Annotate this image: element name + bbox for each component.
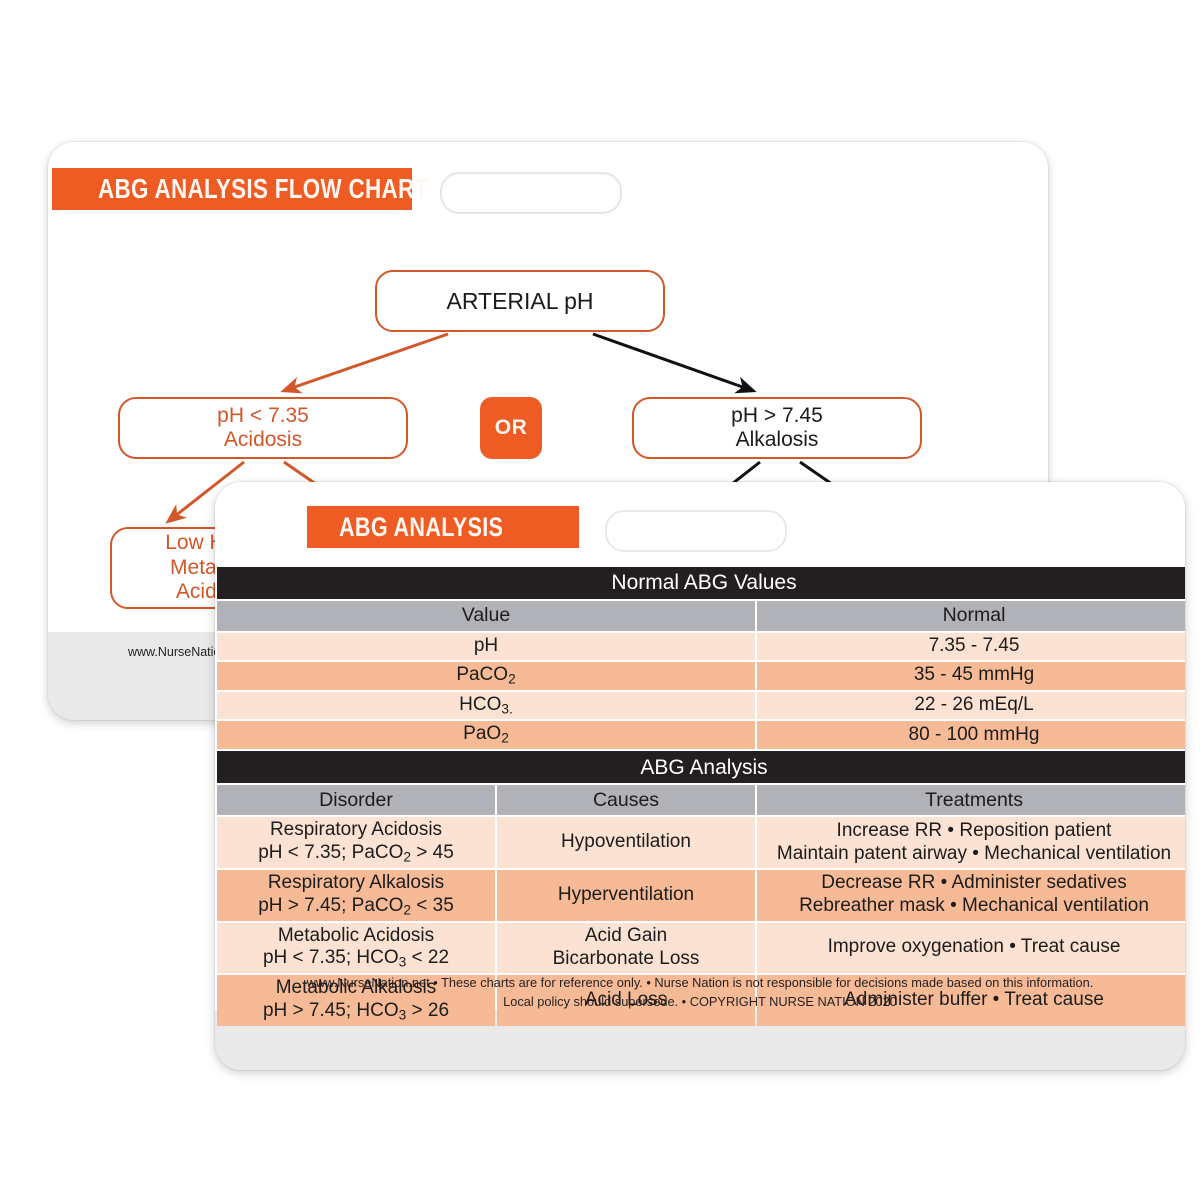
- cell-causes-line1: Acid Gain: [503, 925, 749, 948]
- table-row: Respiratory Alkalosis pH > 7.45; PaCO2 <…: [217, 870, 1185, 921]
- cell-causes-line2: Bicarbonate Loss: [503, 948, 749, 971]
- flow-node-alkalosis-line2: Alkalosis: [731, 428, 823, 452]
- cell-disorder-line2: pH < 7.35; HCO3 < 22: [223, 947, 489, 971]
- cell-normal: 22 - 26 mEq/L: [757, 692, 1185, 720]
- cell-treatments-line1: Decrease RR • Administer sedatives: [763, 872, 1185, 895]
- flow-chart-banner-title: ABG ANALYSIS FLOW CHART: [98, 173, 429, 205]
- tables-container: Normal ABG Values Value Normal pH 7.35 -…: [215, 565, 1185, 1028]
- cell-treatments: Decrease RR • Administer sedatives Rebre…: [757, 870, 1185, 921]
- cell-value: HCO3.: [217, 692, 755, 720]
- badge-slot-hole: [605, 510, 787, 552]
- flow-node-alkalosis: pH > 7.45 Alkalosis: [632, 397, 922, 459]
- cell-disorder-line1: Metabolic Acidosis: [223, 925, 489, 948]
- flow-node-arterial-ph: ARTERIAL pH: [375, 270, 665, 332]
- cell-causes: Acid Gain Bicarbonate Loss: [497, 923, 755, 974]
- flow-node-alkalosis-line1: pH > 7.45: [731, 404, 823, 428]
- cell-disorder: Metabolic Acidosis pH < 7.35; HCO3 < 22: [217, 923, 495, 974]
- or-badge: OR: [480, 397, 542, 459]
- cell-causes: Hyperventilation: [497, 870, 755, 921]
- table-row: pH 7.35 - 7.45: [217, 633, 1185, 660]
- abg-analysis-footer: www.NurseNation.net • These charts are f…: [215, 974, 1185, 1011]
- table-row: PaCO2 35 - 45 mmHg: [217, 662, 1185, 690]
- cell-treatments-line1: Improve oxygenation • Treat cause: [763, 936, 1185, 959]
- badge-slot-hole: [440, 172, 622, 214]
- cell-treatments-line1: Increase RR • Reposition patient: [763, 820, 1185, 843]
- cell-causes: Hypoventilation: [497, 817, 755, 868]
- cell-disorder-line1: Respiratory Acidosis: [223, 819, 489, 842]
- cell-value: PaO2: [217, 721, 755, 749]
- cell-disorder: Respiratory Acidosis pH < 7.35; PaCO2 > …: [217, 817, 495, 868]
- table-row: HCO3. 22 - 26 mEq/L: [217, 692, 1185, 720]
- flow-chart-banner: ABG ANALYSIS FLOW CHART: [52, 168, 412, 210]
- col-header-normal: Normal: [757, 601, 1185, 631]
- flow-node-arterial-ph-label: ARTERIAL pH: [447, 288, 594, 315]
- or-badge-label: OR: [495, 416, 528, 440]
- canvas: ABG ANALYSIS FLOW CHART: [0, 0, 1200, 1200]
- cell-disorder-line1: Respiratory Alkalosis: [223, 872, 489, 895]
- cell-normal: 7.35 - 7.45: [757, 633, 1185, 660]
- cell-causes-line1: Hypoventilation: [503, 831, 749, 854]
- abg-tables: Normal ABG Values Value Normal pH 7.35 -…: [215, 565, 1185, 1028]
- col-header-value: Value: [217, 601, 755, 631]
- table-row: Metabolic Acidosis pH < 7.35; HCO3 < 22 …: [217, 923, 1185, 974]
- cell-normal: 80 - 100 mmHg: [757, 721, 1185, 749]
- col-header-treatments: Treatments: [757, 785, 1185, 815]
- flow-node-acidosis: pH < 7.35 Acidosis: [118, 397, 408, 459]
- cell-treatments: Increase RR • Reposition patient Maintai…: [757, 817, 1185, 868]
- cell-treatments-line2: Rebreather mask • Mechanical ventilation: [763, 895, 1185, 918]
- table-row: PaO2 80 - 100 mmHg: [217, 721, 1185, 749]
- abg-analysis-badge-card: ABG ANALYSIS Normal ABG Values Value Nor…: [215, 482, 1185, 1070]
- analysis-header-row: Disorder Causes Treatments: [217, 785, 1185, 815]
- cell-value: PaCO2: [217, 662, 755, 690]
- flow-node-acidosis-line1: pH < 7.35: [217, 404, 309, 428]
- normal-values-header-row: Value Normal: [217, 601, 1185, 631]
- cell-disorder-line2: pH > 7.45; PaCO2 < 35: [223, 895, 489, 919]
- abg-analysis-banner-title: ABG ANALYSIS: [339, 512, 503, 543]
- flow-node-acidosis-line2: Acidosis: [217, 428, 309, 452]
- cell-disorder: Respiratory Alkalosis pH > 7.45; PaCO2 <…: [217, 870, 495, 921]
- cell-treatments: Improve oxygenation • Treat cause: [757, 923, 1185, 974]
- cell-value: pH: [217, 633, 755, 660]
- footer-line-2: Local policy should supersede. • COPYRIG…: [215, 993, 1185, 1012]
- col-header-disorder: Disorder: [217, 785, 495, 815]
- cell-causes-line1: Hyperventilation: [503, 884, 749, 907]
- col-header-causes: Causes: [497, 785, 755, 815]
- section-title-abg-analysis: ABG Analysis: [217, 751, 1185, 783]
- table-row: Respiratory Acidosis pH < 7.35; PaCO2 > …: [217, 817, 1185, 868]
- cell-normal: 35 - 45 mmHg: [757, 662, 1185, 690]
- cell-treatments-line2: Maintain patent airway • Mechanical vent…: [763, 843, 1185, 866]
- section-header-abg-analysis: ABG Analysis: [217, 751, 1185, 783]
- abg-analysis-banner: ABG ANALYSIS: [307, 506, 579, 548]
- section-header-normal-values: Normal ABG Values: [217, 567, 1185, 599]
- footer-line-1: www.NurseNation.net • These charts are f…: [215, 974, 1185, 993]
- section-title-normal-values: Normal ABG Values: [217, 567, 1185, 599]
- cell-disorder-line2: pH < 7.35; PaCO2 > 45: [223, 842, 489, 866]
